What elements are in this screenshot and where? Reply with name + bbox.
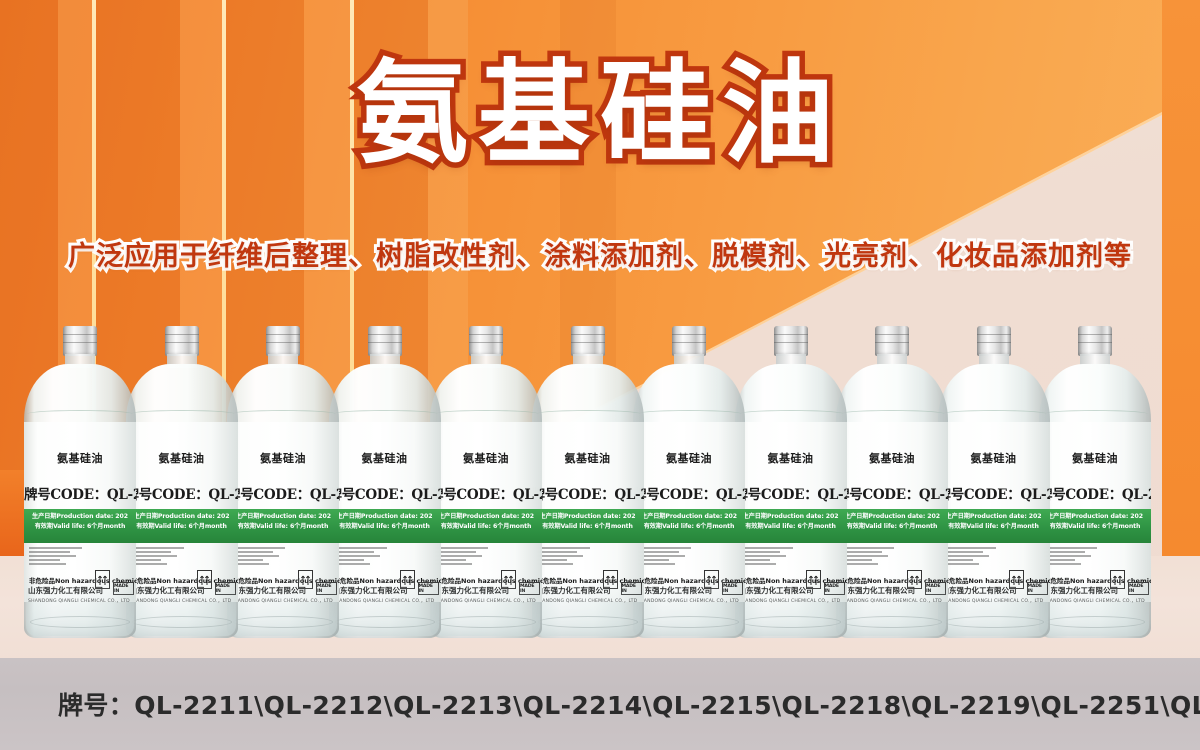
bottle-shoulder-line bbox=[230, 410, 336, 418]
bottle-cap bbox=[165, 326, 199, 356]
label-valid-life: 有效期Valid life: 6个月month bbox=[838, 522, 946, 532]
label-date-band: 生产日期Production date: 202有效期Valid life: 6… bbox=[938, 509, 1050, 543]
bottle-cap bbox=[875, 326, 909, 356]
product-bottle: 氨基硅油牌号CODE：QL-2251生产日期Production date: 2… bbox=[836, 326, 948, 638]
label-date-band: 生产日期Production date: 202有效期Valid life: 6… bbox=[126, 509, 238, 543]
label-product-name: 氨基硅油 bbox=[1039, 422, 1151, 466]
label-production-date: 生产日期Production date: 202 bbox=[737, 512, 845, 522]
bottle-shoulder-line bbox=[27, 410, 133, 418]
bottle-body: 氨基硅油牌号CODE：QL-2211生产日期Production date: 2… bbox=[24, 364, 136, 638]
label-production-date: 生产日期Production date: 202 bbox=[26, 512, 134, 522]
label-production-date: 生产日期Production date: 202 bbox=[229, 512, 337, 522]
label-fineprint-lines bbox=[841, 547, 943, 565]
label-date-band: 生产日期Production date: 202有效期Valid life: 6… bbox=[532, 509, 644, 543]
bottle-shoulder-line bbox=[433, 410, 539, 418]
bottle-label: 氨基硅油牌号CODE：QL-2253生产日期Production date: 2… bbox=[1039, 422, 1151, 602]
label-fineprint-lines bbox=[740, 547, 842, 565]
label-valid-life: 有效期Valid life: 6个月month bbox=[1041, 522, 1149, 532]
bottle-label: 氨基硅油牌号CODE：QL-2211生产日期Production date: 2… bbox=[24, 422, 136, 602]
label-valid-life: 有效期Valid life: 6个月month bbox=[737, 522, 845, 532]
product-banner: 氨基硅油 广泛应用于纤维后整理、树脂改性剂、涂料添加剂、脱模剂、光亮剂、化妆品添… bbox=[0, 0, 1200, 750]
bottle-body: 氨基硅油牌号CODE：QL-2253生产日期Production date: 2… bbox=[1039, 364, 1151, 638]
bottle-shoulder-line bbox=[636, 410, 742, 418]
label-date-band: 生产日期Production date: 202有效期Valid life: 6… bbox=[1039, 509, 1151, 543]
product-bottle: 氨基硅油牌号CODE：QL-2218生产日期Production date: 2… bbox=[633, 326, 745, 638]
bottle-shoulder-line bbox=[129, 410, 235, 418]
label-valid-life: 有效期Valid life: 6个月month bbox=[26, 522, 134, 532]
bottle-base-ring bbox=[842, 616, 942, 628]
bottle-shoulder-line bbox=[941, 410, 1047, 418]
page-subtitle: 广泛应用于纤维后整理、树脂改性剂、涂料添加剂、脱模剂、光亮剂、化妆品添加剂等 bbox=[68, 234, 1132, 273]
bottle-label: 氨基硅油牌号CODE：QL-2214生产日期Production date: 2… bbox=[329, 422, 441, 602]
label-code: 牌号CODE：QL-2214 bbox=[329, 483, 441, 503]
bottle-label: 氨基硅油牌号CODE：QL-2218生产日期Production date: 2… bbox=[633, 422, 745, 602]
label-production-date: 生产日期Production date: 202 bbox=[635, 512, 743, 522]
label-code: 牌号CODE：QL-2217 bbox=[532, 483, 644, 503]
title-block: 氨基硅油 bbox=[0, 52, 1200, 177]
label-product-name: 氨基硅油 bbox=[430, 422, 542, 466]
label-fineprint-lines bbox=[537, 547, 639, 565]
label-valid-life: 有效期Valid life: 6个月month bbox=[940, 522, 1048, 532]
bottle-body: 氨基硅油牌号CODE：QL-2213生产日期Production date: 2… bbox=[227, 364, 339, 638]
product-bottle: 氨基硅油牌号CODE：QL-2213生产日期Production date: 2… bbox=[227, 326, 339, 638]
bottle-body: 氨基硅油牌号CODE：QL-2212生产日期Production date: 2… bbox=[126, 364, 238, 638]
product-bottle: 氨基硅油牌号CODE：QL-2211生产日期Production date: 2… bbox=[24, 326, 136, 638]
bottle-base-ring bbox=[944, 616, 1044, 628]
bottle-base-ring bbox=[436, 616, 536, 628]
label-production-date: 生产日期Production date: 202 bbox=[128, 512, 236, 522]
footer-band: 牌号：QL-2211\QL-2212\QL-2213\QL-2214\QL-22… bbox=[0, 658, 1200, 750]
label-product-name: 氨基硅油 bbox=[532, 422, 644, 466]
bottle-base-ring bbox=[639, 616, 739, 628]
label-production-date: 生产日期Production date: 202 bbox=[331, 512, 439, 522]
page-title: 氨基硅油 bbox=[356, 52, 844, 177]
bottle-cap bbox=[571, 326, 605, 356]
label-valid-life: 有效期Valid life: 6个月month bbox=[432, 522, 540, 532]
label-code: 牌号CODE：QL-2212 bbox=[126, 483, 238, 503]
bottle-shoulder-line bbox=[332, 410, 438, 418]
label-date-band: 生产日期Production date: 202有效期Valid life: 6… bbox=[633, 509, 745, 543]
label-product-name: 氨基硅油 bbox=[633, 422, 745, 466]
bottle-label: 氨基硅油牌号CODE：QL-2251生产日期Production date: 2… bbox=[836, 422, 948, 602]
label-production-date: 生产日期Production date: 202 bbox=[432, 512, 540, 522]
label-fineprint-lines bbox=[638, 547, 740, 565]
label-product-name: 氨基硅油 bbox=[735, 422, 847, 466]
bottle-base-ring bbox=[335, 616, 435, 628]
bottle-shoulder-line bbox=[535, 410, 641, 418]
bottle-cap bbox=[469, 326, 503, 356]
label-valid-life: 有效期Valid life: 6个月month bbox=[635, 522, 743, 532]
label-fineprint-lines bbox=[943, 547, 1045, 565]
bottle-body: 氨基硅油牌号CODE：QL-2214生产日期Production date: 2… bbox=[329, 364, 441, 638]
label-production-date: 生产日期Production date: 202 bbox=[1041, 512, 1149, 522]
bottle-body: 氨基硅油牌号CODE：QL-2252生产日期Production date: 2… bbox=[938, 364, 1050, 638]
label-date-band: 生产日期Production date: 202有效期Valid life: 6… bbox=[836, 509, 948, 543]
bottle-row: 氨基硅油牌号CODE：QL-2211生产日期Production date: 2… bbox=[0, 318, 1200, 638]
bottle-shoulder-line bbox=[738, 410, 844, 418]
bottle-cap bbox=[63, 326, 97, 356]
label-fineprint-lines bbox=[1044, 547, 1146, 565]
label-code: 牌号CODE：QL-2218 bbox=[633, 483, 745, 503]
bottle-body: 氨基硅油牌号CODE：QL-2218生产日期Production date: 2… bbox=[633, 364, 745, 638]
label-product-name: 氨基硅油 bbox=[329, 422, 441, 466]
label-product-name: 氨基硅油 bbox=[126, 422, 238, 466]
label-date-band: 生产日期Production date: 202有效期Valid life: 6… bbox=[24, 509, 136, 543]
bottle-cap bbox=[774, 326, 808, 356]
label-valid-life: 有效期Valid life: 6个月month bbox=[331, 522, 439, 532]
product-bottle: 氨基硅油牌号CODE：QL-2214生产日期Production date: 2… bbox=[329, 326, 441, 638]
bottle-cap bbox=[1078, 326, 1112, 356]
label-date-band: 生产日期Production date: 202有效期Valid life: 6… bbox=[227, 509, 339, 543]
label-code: 牌号CODE：QL-2253 bbox=[1039, 483, 1151, 503]
label-code: 牌号CODE：QL-2211 bbox=[24, 483, 136, 503]
label-code: 牌号CODE：QL-2252 bbox=[938, 483, 1050, 503]
bottle-label: 氨基硅油牌号CODE：QL-2252生产日期Production date: 2… bbox=[938, 422, 1050, 602]
product-bottle: 氨基硅油牌号CODE：QL-2212生产日期Production date: 2… bbox=[126, 326, 238, 638]
bottle-base-ring bbox=[233, 616, 333, 628]
label-valid-life: 有效期Valid life: 6个月month bbox=[229, 522, 337, 532]
bottle-label: 氨基硅油牌号CODE：QL-2212生产日期Production date: 2… bbox=[126, 422, 238, 602]
bottle-cap bbox=[368, 326, 402, 356]
bottle-body: 氨基硅油牌号CODE：QL-2217生产日期Production date: 2… bbox=[532, 364, 644, 638]
bottle-base-ring bbox=[741, 616, 841, 628]
bottle-label: 氨基硅油牌号CODE：QL-2219生产日期Production date: 2… bbox=[735, 422, 847, 602]
bottle-body: 氨基硅油牌号CODE：QL-2219生产日期Production date: 2… bbox=[735, 364, 847, 638]
bottle-base-ring bbox=[538, 616, 638, 628]
label-production-date: 生产日期Production date: 202 bbox=[838, 512, 946, 522]
label-product-name: 氨基硅油 bbox=[227, 422, 339, 466]
bottle-base-ring bbox=[132, 616, 232, 628]
bottle-body: 氨基硅油牌号CODE：QL-2251生产日期Production date: 2… bbox=[836, 364, 948, 638]
label-date-band: 生产日期Production date: 202有效期Valid life: 6… bbox=[329, 509, 441, 543]
label-product-name: 氨基硅油 bbox=[836, 422, 948, 466]
bottle-label: 氨基硅油牌号CODE：QL-2213生产日期Production date: 2… bbox=[227, 422, 339, 602]
label-production-date: 生产日期Production date: 202 bbox=[940, 512, 1048, 522]
bottle-body: 氨基硅油牌号CODE：QL-2215生产日期Production date: 2… bbox=[430, 364, 542, 638]
label-product-name: 氨基硅油 bbox=[938, 422, 1050, 466]
subtitle-block: 广泛应用于纤维后整理、树脂改性剂、涂料添加剂、脱模剂、光亮剂、化妆品添加剂等 bbox=[0, 234, 1200, 273]
label-valid-life: 有效期Valid life: 6个月month bbox=[128, 522, 236, 532]
label-fineprint-lines bbox=[131, 547, 233, 565]
label-code: 牌号CODE：QL-2219 bbox=[735, 483, 847, 503]
product-bottle: 氨基硅油牌号CODE：QL-2219生产日期Production date: 2… bbox=[735, 326, 847, 638]
label-fineprint-lines bbox=[29, 547, 131, 565]
label-fineprint-lines bbox=[232, 547, 334, 565]
label-code: 牌号CODE：QL-2213 bbox=[227, 483, 339, 503]
product-bottle: 氨基硅油牌号CODE：QL-2217生产日期Production date: 2… bbox=[532, 326, 644, 638]
bottle-shoulder-line bbox=[1042, 410, 1148, 418]
product-bottle: 氨基硅油牌号CODE：QL-2215生产日期Production date: 2… bbox=[430, 326, 542, 638]
label-product-name: 氨基硅油 bbox=[24, 422, 136, 466]
bottle-cap bbox=[977, 326, 1011, 356]
label-valid-life: 有效期Valid life: 6个月month bbox=[534, 522, 642, 532]
bottle-shoulder-line bbox=[839, 410, 945, 418]
bottle-base-ring bbox=[30, 616, 130, 628]
label-fineprint-lines bbox=[334, 547, 436, 565]
bottle-label: 氨基硅油牌号CODE：QL-2217生产日期Production date: 2… bbox=[532, 422, 644, 602]
label-date-band: 生产日期Production date: 202有效期Valid life: 6… bbox=[430, 509, 542, 543]
bottle-base-ring bbox=[1045, 616, 1145, 628]
bottle-cap bbox=[672, 326, 706, 356]
label-fineprint-lines bbox=[435, 547, 537, 565]
label-date-band: 生产日期Production date: 202有效期Valid life: 6… bbox=[735, 509, 847, 543]
label-production-date: 生产日期Production date: 202 bbox=[534, 512, 642, 522]
grades-list: 牌号：QL-2211\QL-2212\QL-2213\QL-2214\QL-22… bbox=[0, 686, 1200, 722]
bottle-cap bbox=[266, 326, 300, 356]
product-bottle: 氨基硅油牌号CODE：QL-2252生产日期Production date: 2… bbox=[938, 326, 1050, 638]
product-bottle: 氨基硅油牌号CODE：QL-2253生产日期Production date: 2… bbox=[1039, 326, 1151, 638]
bottle-label: 氨基硅油牌号CODE：QL-2215生产日期Production date: 2… bbox=[430, 422, 542, 602]
label-code: 牌号CODE：QL-2251 bbox=[836, 483, 948, 503]
label-code: 牌号CODE：QL-2215 bbox=[430, 483, 542, 503]
